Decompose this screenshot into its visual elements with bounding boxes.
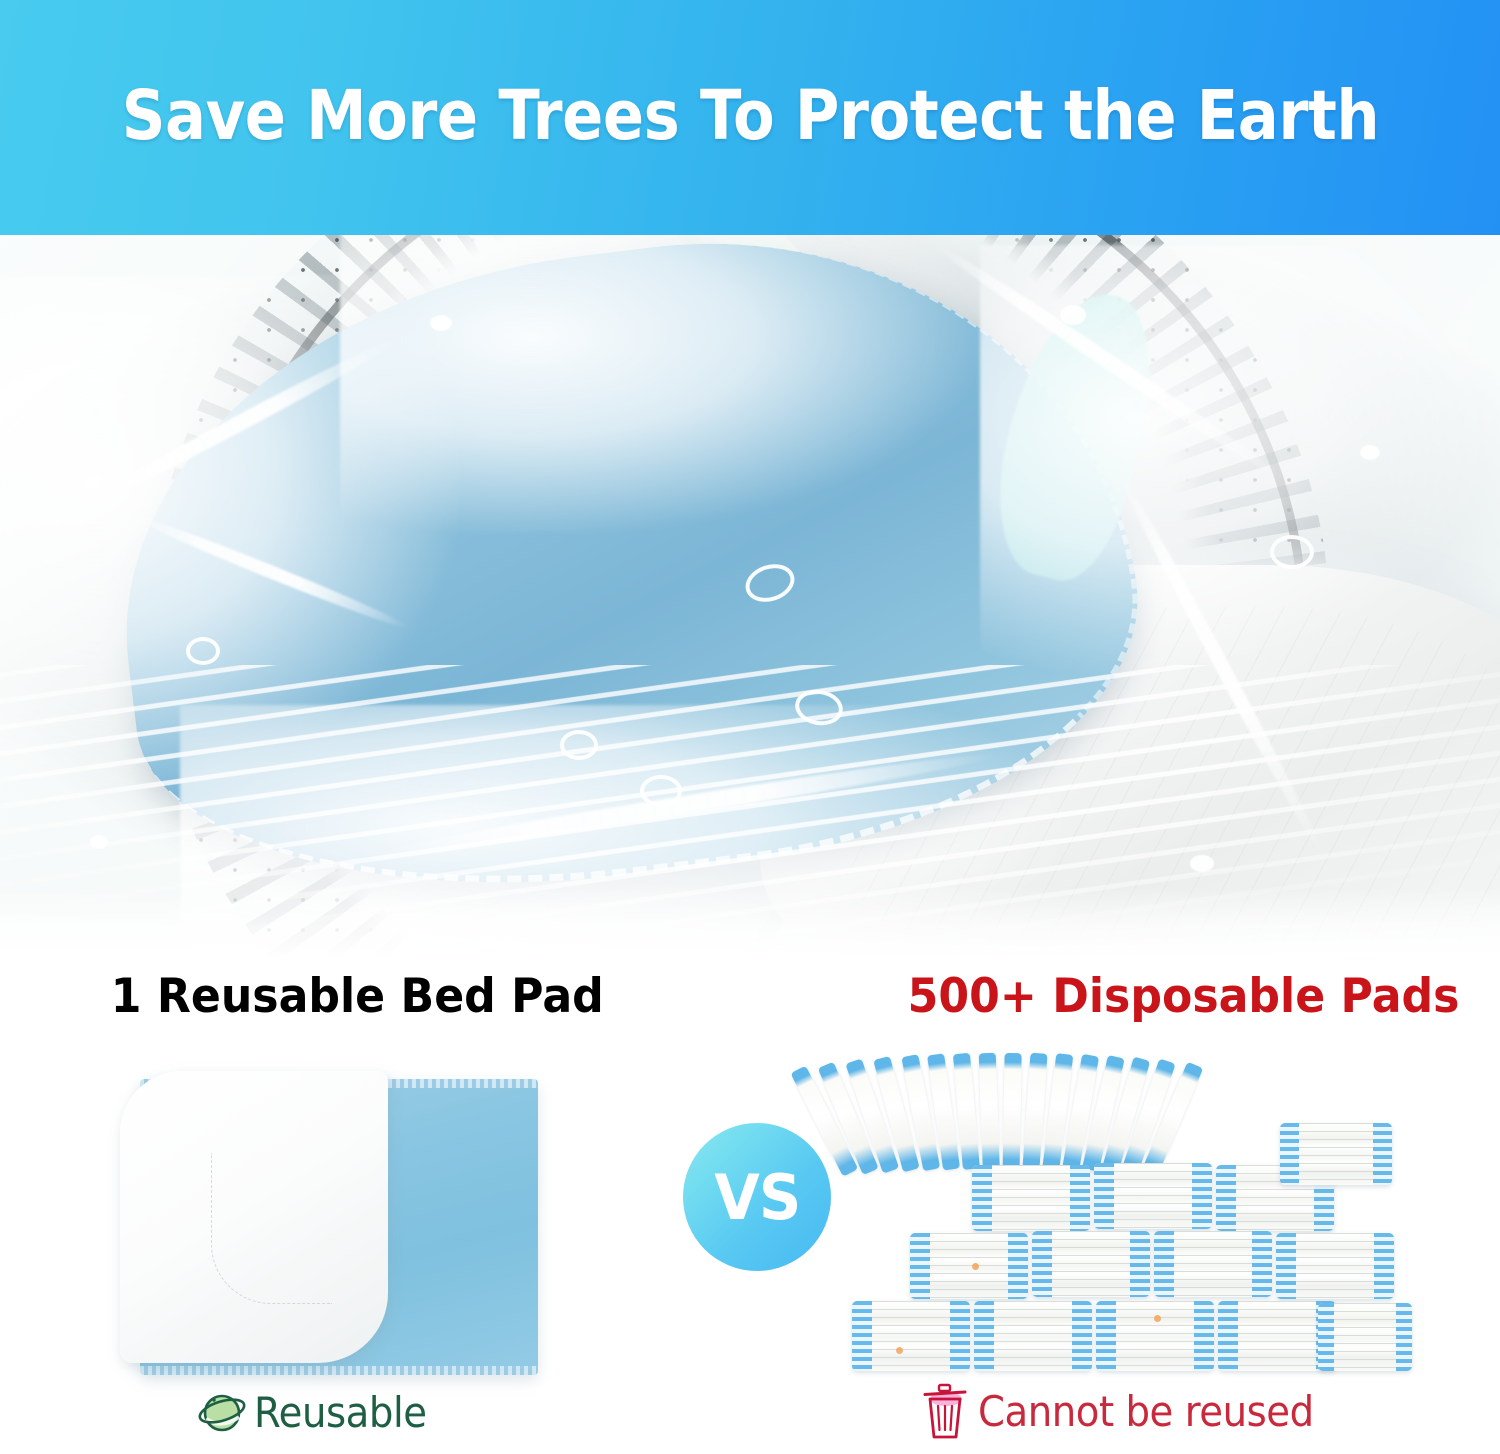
pad-bundle-layers [1116,1301,1194,1371]
reusable-column-heading: 1 Reusable Bed Pad [111,969,604,1024]
water-splash-sheet-right [980,245,1500,675]
pad-bundle [1094,1163,1212,1229]
vs-label: VS [714,1161,800,1234]
pads-fanned-top-row [852,1053,1272,1173]
fan-pad [979,1053,1000,1170]
photo-bottom-fade [0,887,1500,957]
pad-bundle-layers [1174,1231,1252,1297]
pad-bundle-layers [1299,1123,1373,1185]
page-title: Save More Trees To Protect the Earth [121,76,1378,156]
trash-can-icon [922,1382,968,1440]
pad-bundle-layers [1296,1233,1374,1299]
pad-bundle [1096,1301,1214,1371]
pad-bundle-layers [1238,1301,1316,1371]
pad-print-dot [972,1263,979,1270]
reusable-footer: Reusable [196,1386,442,1438]
pad-print-dot [1154,1315,1161,1322]
reusable-label: Reusable [254,1388,427,1437]
cannot-be-reused-footer: Cannot be reused [922,1382,1343,1440]
pad-bundle [1318,1303,1412,1371]
reusable-bed-pad-image [118,1067,548,1387]
water-droplet-ring-3 [1270,535,1314,569]
pad-bundle-layers [1052,1231,1130,1297]
pad-bundle-layers [872,1301,950,1371]
water-droplet-4 [90,835,108,849]
hero-photo-washing-machine [0,235,1500,957]
water-droplet-2 [1060,305,1086,325]
water-droplet-3 [1360,445,1380,460]
pad-bundle [1032,1231,1150,1297]
pad-bundle [972,1165,1090,1231]
pad-bundle-layers [930,1233,1008,1299]
header-banner: Save More Trees To Protect the Earth [0,0,1500,235]
bed-pad-white-folded-corner [120,1071,388,1363]
pad-bundle [1276,1233,1394,1299]
water-droplet-ring-4 [560,730,598,760]
disposable-pads-stack-image [852,1053,1412,1393]
pad-bundle [1280,1123,1392,1185]
water-droplet-1 [430,315,452,331]
water-droplet-ring-5 [640,775,682,807]
water-splash-sheet-top [340,235,980,535]
water-droplet-ring-6 [186,637,220,665]
pad-bundle [974,1301,1092,1371]
disposable-column-heading: 500+ Disposable Pads [908,969,1460,1024]
pad-bundle-layers [1114,1163,1192,1229]
pad-bundle-layers [994,1301,1072,1371]
pad-print-dot [896,1347,903,1354]
pad-bundle [852,1301,970,1371]
pad-bundle-layers [1334,1303,1396,1371]
globe-recycle-icon [196,1386,248,1438]
pad-bundle [1154,1231,1272,1297]
pad-bundle [910,1233,1028,1299]
pad-bundle-layers [992,1165,1070,1231]
fan-pad [1003,1053,1022,1169]
cannot-be-reused-label: Cannot be reused [978,1387,1314,1436]
product-infographic: Save More Trees To Protect the Earth [0,0,1500,1454]
vs-badge: VS [683,1123,831,1271]
water-droplet-5 [1190,855,1214,872]
